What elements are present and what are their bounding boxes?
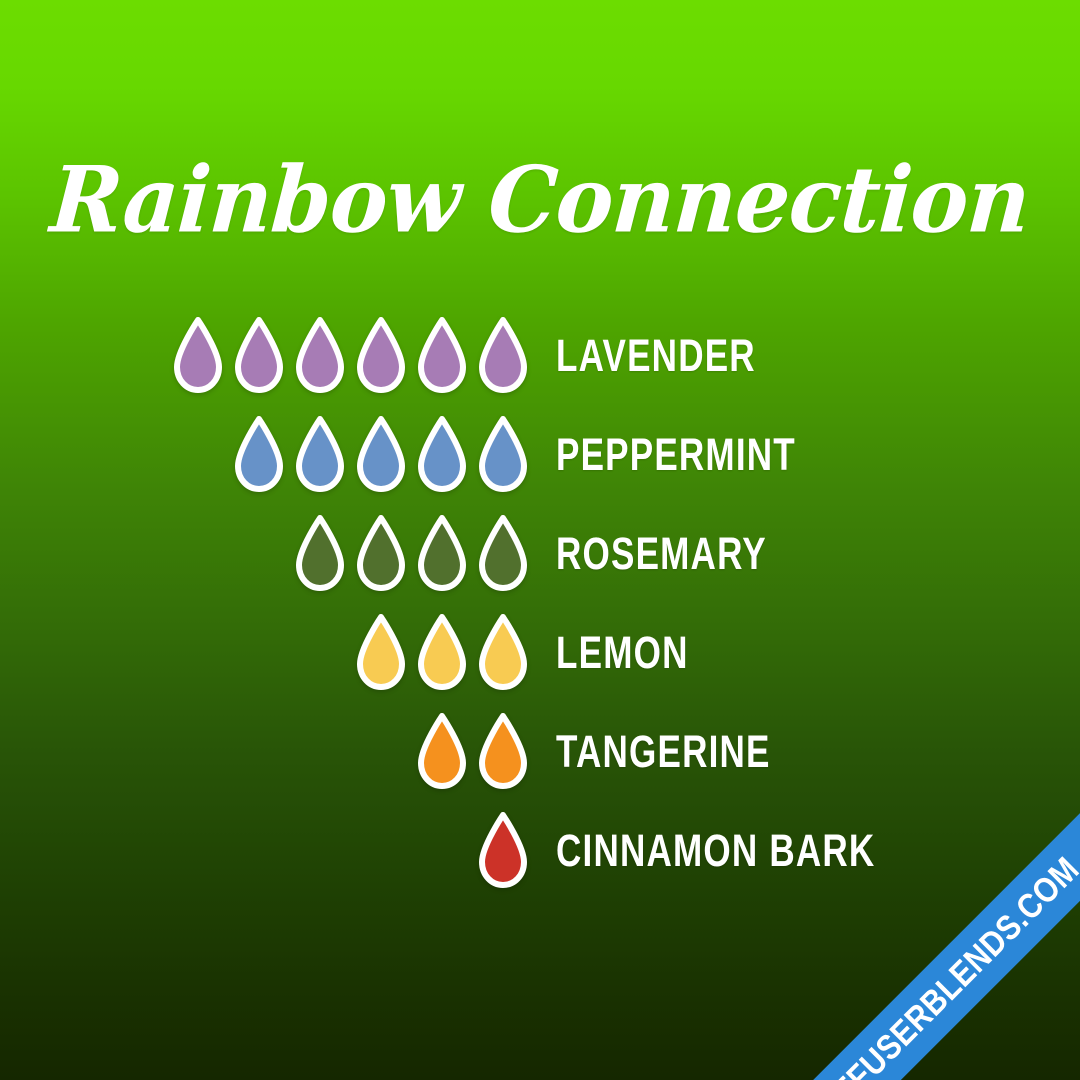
oil-drop-icon [472, 315, 534, 397]
ingredient-label: ROSEMARY [556, 531, 767, 576]
ingredient-row: LEMON [0, 603, 1080, 702]
oil-drop-icon [472, 711, 534, 793]
drop-count-group [0, 414, 533, 496]
oil-drop-icon [472, 414, 534, 496]
oil-drop-icon [350, 612, 412, 694]
ingredient-label: LAVENDER [556, 333, 756, 378]
oil-drop-icon [411, 315, 473, 397]
oil-drop-icon [289, 315, 351, 397]
ingredient-label: LEMON [556, 630, 689, 675]
oil-drop-icon [289, 414, 351, 496]
ingredient-row: PEPPERMINT [0, 405, 1080, 504]
oil-drop-icon [350, 513, 412, 595]
ingredient-row: TANGERINE [0, 702, 1080, 801]
oil-drop-icon [472, 810, 534, 892]
drop-count-group [0, 612, 533, 694]
ingredient-row: LAVENDER [0, 306, 1080, 405]
drop-count-group [0, 711, 533, 793]
ingredient-label: PEPPERMINT [556, 432, 796, 477]
ingredient-row: ROSEMARY [0, 504, 1080, 603]
ingredient-row: CINNAMON BARK [0, 801, 1080, 900]
oil-drop-icon [350, 315, 412, 397]
oil-drop-icon [289, 513, 351, 595]
oil-drop-icon [472, 513, 534, 595]
page-title: Rainbow Connection [48, 155, 1032, 246]
drop-count-group [0, 513, 533, 595]
drop-count-group [0, 315, 533, 397]
ingredient-label: TANGERINE [556, 729, 771, 774]
oil-drop-icon [411, 612, 473, 694]
oil-drop-icon [228, 414, 290, 496]
title-container: Rainbow Connection [0, 158, 1080, 244]
oil-drop-icon [411, 711, 473, 793]
oil-drop-icon [411, 414, 473, 496]
oil-drop-icon [167, 315, 229, 397]
oil-drop-icon [411, 513, 473, 595]
oil-drop-icon [472, 612, 534, 694]
ingredient-label: CINNAMON BARK [556, 828, 875, 873]
drop-count-group [0, 810, 533, 892]
oil-drop-icon [350, 414, 412, 496]
ingredient-list: LAVENDERPEPPERMINTROSEMARYLEMONTANGERINE… [0, 306, 1080, 900]
oil-drop-icon [228, 315, 290, 397]
poster-canvas: Rainbow Connection LAVENDERPEPPERMINTROS… [0, 0, 1080, 1080]
